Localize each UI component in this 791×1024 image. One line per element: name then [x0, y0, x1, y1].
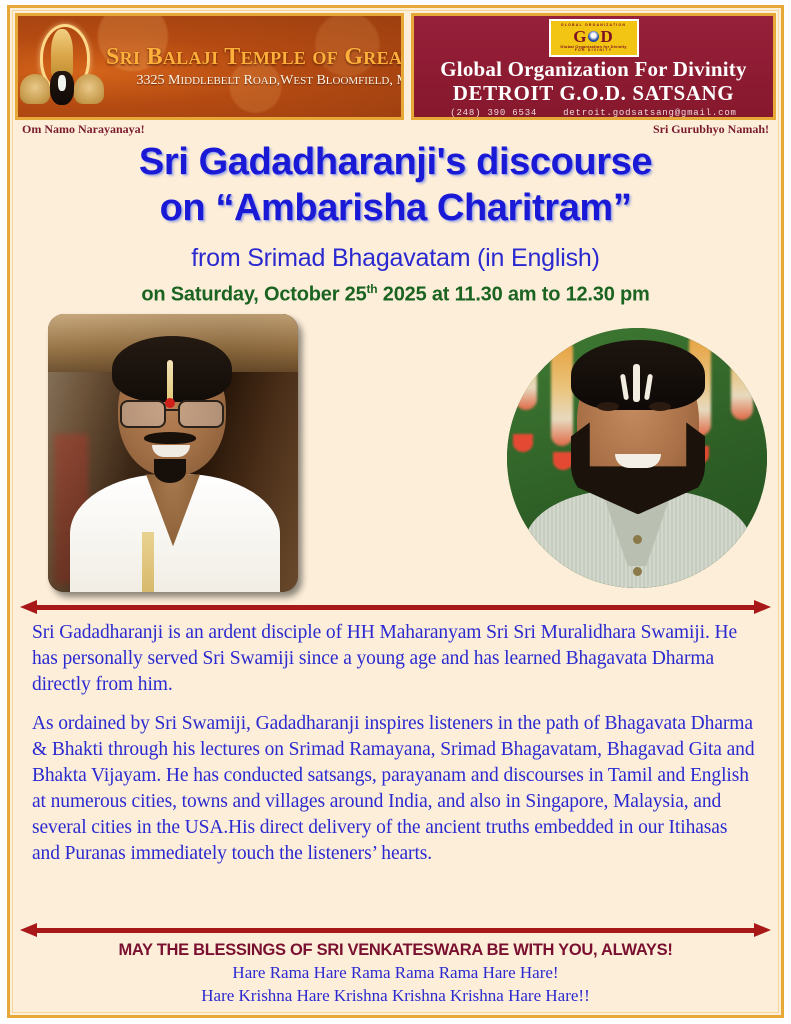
- glasses-icon: [120, 400, 224, 424]
- title-line-1: Sri Gadadharanji's discourse: [139, 141, 652, 183]
- god-logo-bottom-text: FOR DIVINITY: [575, 49, 613, 53]
- temple-name: SRI BALAJI TEMPLE OF GREAT LAKES: [106, 45, 404, 70]
- poster-frame: SRI BALAJI TEMPLE OF GREAT LAKES 3325 MI…: [7, 5, 784, 1018]
- arrow-right-tip-icon: [754, 600, 771, 614]
- event-datetime: on Saturday, October 25th 2025 at 11.30 …: [20, 282, 771, 307]
- footer-block: MAY THE BLESSINGS OF SRI VENKATESWARA BE…: [10, 937, 781, 1016]
- arrow-left-tip-icon: [20, 923, 37, 937]
- event-date-ordinal: th: [367, 282, 378, 296]
- biography-block: Sri Gadadharanji is an ardent disciple o…: [10, 614, 781, 922]
- god-org-name: Global Organization For Divinity: [414, 58, 773, 81]
- photo-swamiji-left: [48, 314, 298, 592]
- god-logo-letter-d: D: [600, 28, 613, 45]
- event-date-prefix: on Saturday, October 25: [141, 283, 366, 305]
- god-website[interactable]: www.godivinity.org: [414, 119, 773, 120]
- temple-banner: SRI BALAJI TEMPLE OF GREAT LAKES 3325 MI…: [15, 13, 404, 120]
- title-subtitle: from Srimad Bhagavatam (in English): [20, 244, 771, 273]
- event-date-suffix: 2025 at 11.30 am to 12.30 pm: [377, 283, 649, 305]
- invocation-row: Om Namo Narayanaya! Sri Gurubhyo Namah!: [10, 120, 781, 137]
- lamp-orb-icon: [588, 31, 599, 42]
- god-logo-letter-g: G: [573, 28, 587, 45]
- invocation-right: Sri Gurubhyo Namah!: [653, 122, 769, 137]
- page-title: Sri Gadadharanji's discourse on “Ambaris…: [20, 139, 771, 232]
- photo-row: [10, 312, 781, 600]
- god-banner: GLOBAL ORGANIZATION G D Global Organizat…: [411, 13, 776, 120]
- biography-paragraph-1: Sri Gadadharanji is an ardent disciple o…: [32, 620, 759, 698]
- invocation-left: Om Namo Narayanaya!: [22, 122, 145, 137]
- title-line-2: on “Ambarisha Charitram”: [20, 185, 771, 231]
- event-poster: SRI BALAJI TEMPLE OF GREAT LAKES 3325 MI…: [0, 0, 791, 1024]
- header-banner-row: SRI BALAJI TEMPLE OF GREAT LAKES 3325 MI…: [10, 8, 781, 120]
- title-block: Sri Gadadharanji's discourse on “Ambaris…: [10, 137, 781, 306]
- god-contact-row: (248) 390 6534 detroit.godsatsang@gmail.…: [414, 108, 773, 118]
- arrow-left-tip-icon: [20, 600, 37, 614]
- photo-gadadharanji-right: [507, 328, 767, 588]
- god-logo-icon: GLOBAL ORGANIZATION G D Global Organizat…: [549, 19, 639, 57]
- temple-text-block: SRI BALAJI TEMPLE OF GREAT LAKES 3325 MI…: [106, 45, 404, 89]
- arrow-divider-bottom: [20, 923, 771, 937]
- god-email[interactable]: detroit.godsatsang@gmail.com: [563, 108, 737, 118]
- biography-paragraph-2: As ordained by Sri Swamiji, Gadadharanji…: [32, 711, 759, 867]
- temple-address: 3325 MIDDLEBELT ROAD,WEST BLOOMFIELD, MI…: [106, 74, 404, 89]
- balaji-deity-icon: [18, 16, 106, 117]
- chant-line-2: Hare Krishna Hare Krishna Krishna Krishn…: [20, 985, 771, 1007]
- god-phone: (248) 390 6534: [450, 108, 537, 118]
- god-chapter-name: DETROIT G.O.D. SATSANG: [414, 81, 773, 105]
- god-logo-letters: G D: [573, 28, 614, 45]
- blessing-text: MAY THE BLESSINGS OF SRI VENKATESWARA BE…: [20, 941, 771, 960]
- arrow-right-tip-icon: [754, 923, 771, 937]
- arrow-divider-top: [20, 600, 771, 614]
- chant-line-1: Hare Rama Hare Rama Rama Rama Hare Hare!: [20, 962, 771, 984]
